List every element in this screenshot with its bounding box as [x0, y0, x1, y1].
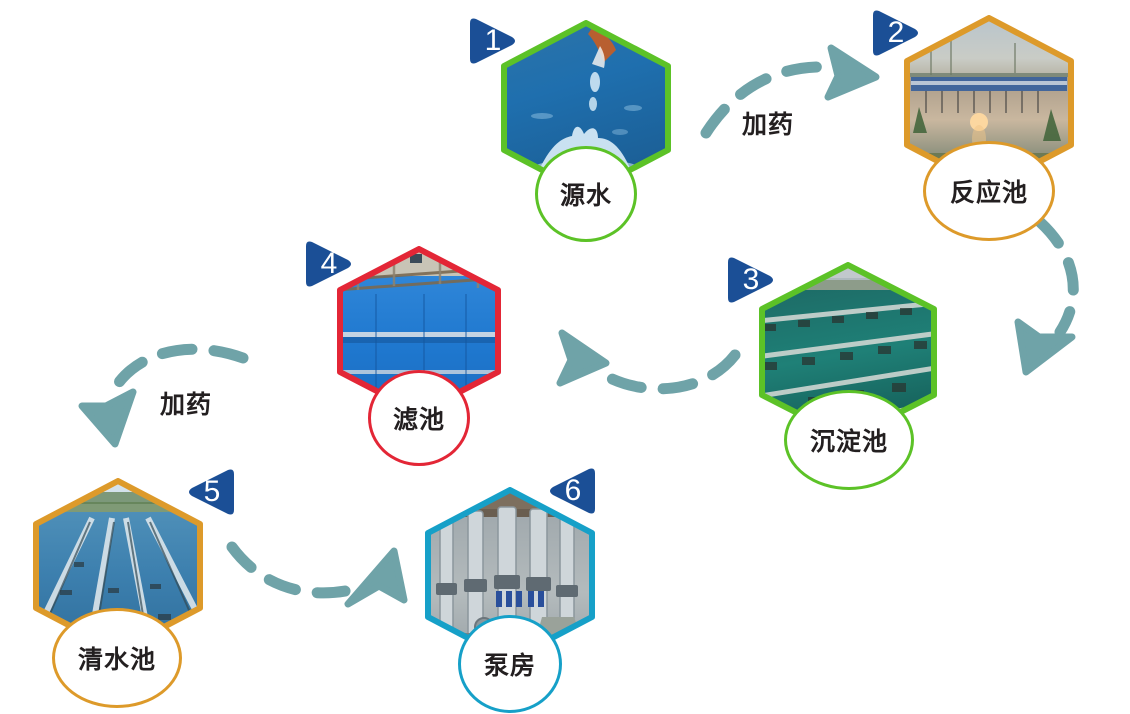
step-label-bubble-4[interactable]: 滤池: [368, 370, 470, 466]
connector-label-dosing-1: 加药: [742, 105, 794, 141]
step-label-bubble-2[interactable]: 反应池: [923, 141, 1055, 241]
step-number-2: 2: [871, 7, 927, 59]
step-label-1: 源水: [560, 176, 612, 212]
process-step-6[interactable]: 6 泵房: [424, 487, 596, 663]
process-step-3[interactable]: 3 沉淀池: [758, 262, 938, 442]
step-number-4: 4: [304, 238, 360, 290]
step-label-6: 泵房: [484, 646, 536, 682]
step-badge-5: 5: [180, 466, 236, 518]
step-badge-2: 2: [871, 7, 927, 59]
process-step-4[interactable]: 4 滤池: [336, 246, 502, 416]
step-label-4: 滤池: [393, 400, 445, 436]
connector-2-to-3: [1018, 222, 1073, 372]
connector-label-dosing-2: 加药: [160, 385, 212, 421]
step-label-bubble-6[interactable]: 泵房: [458, 615, 562, 713]
process-step-5[interactable]: 5 清水池: [32, 478, 204, 654]
step-number-1: 1: [468, 15, 524, 67]
step-badge-1: 1: [468, 15, 524, 67]
process-step-1[interactable]: 1 源水: [500, 20, 672, 196]
step-label-2: 反应池: [950, 173, 1028, 209]
step-badge-4: 4: [304, 238, 360, 290]
step-number-6: 6: [541, 465, 597, 517]
step-number-3: 3: [726, 254, 782, 306]
step-label-bubble-1[interactable]: 源水: [535, 146, 637, 242]
connector-3-to-4: [560, 333, 735, 389]
step-label-bubble-3[interactable]: 沉淀池: [784, 390, 914, 490]
step-badge-3: 3: [726, 254, 782, 306]
step-label-bubble-5[interactable]: 清水池: [52, 608, 182, 708]
process-flow-diagram: 加药 加药: [0, 0, 1130, 714]
connector-5-to-6: [232, 547, 404, 604]
process-step-2[interactable]: 2 反应池: [903, 15, 1075, 191]
step-number-5: 5: [180, 466, 236, 518]
step-badge-6: 6: [541, 465, 597, 517]
step-label-5: 清水池: [78, 640, 156, 676]
step-label-3: 沉淀池: [810, 422, 888, 458]
